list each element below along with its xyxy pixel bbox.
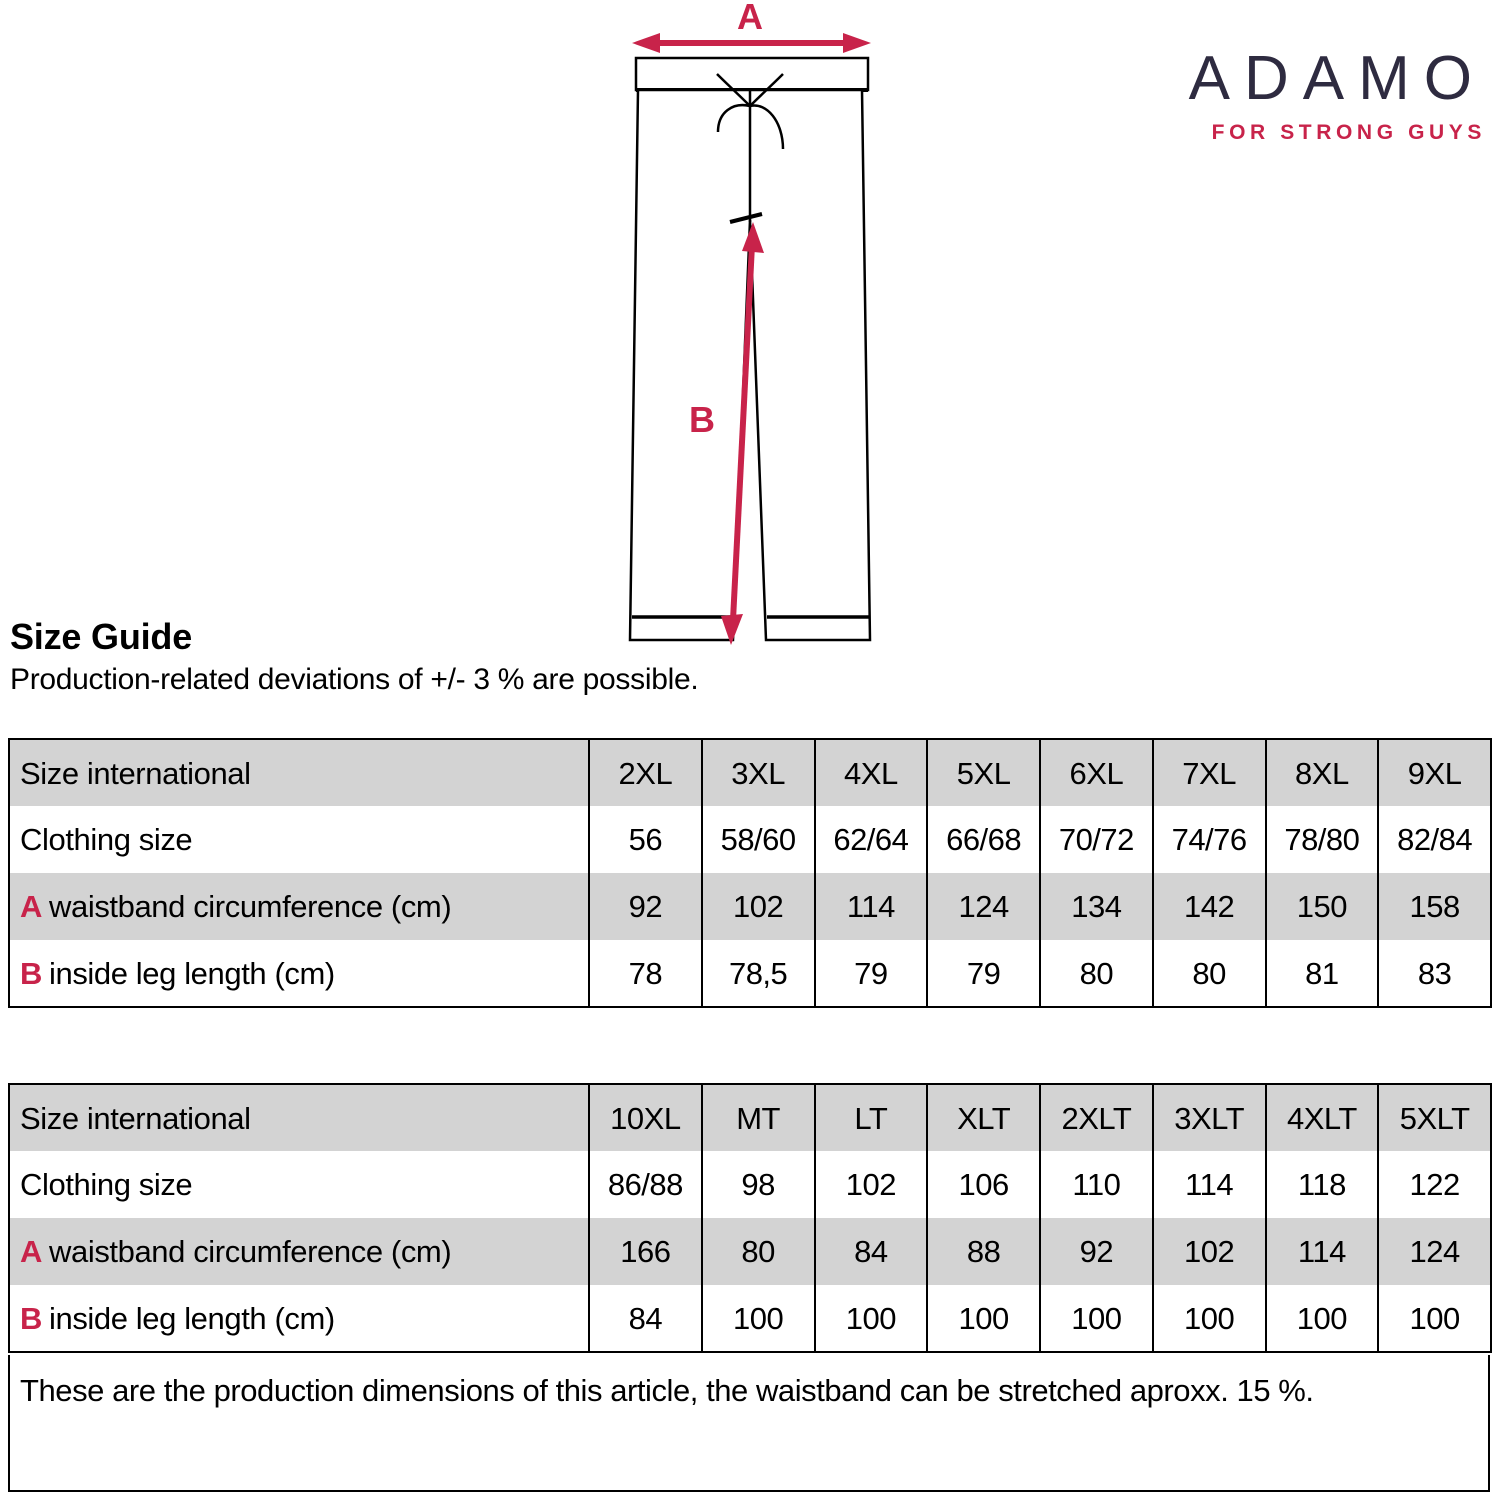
table-cell: 114: [815, 873, 928, 940]
table-row-waistband: Awaistband circumference (cm) 166 80 84 …: [9, 1218, 1491, 1285]
table-row-inside-leg: Binside leg length (cm) 78 78,5 79 79 80…: [9, 940, 1491, 1007]
dimension-letter-b: B: [20, 1301, 42, 1336]
table-cell: 114: [1153, 1151, 1266, 1218]
row-label-inside-leg-text: inside leg length (cm): [49, 1301, 335, 1336]
table-cell: 110: [1040, 1151, 1153, 1218]
table-cell: 92: [1040, 1218, 1153, 1285]
table-cell: 100: [702, 1285, 815, 1352]
size-table-standard: Size international 2XL 3XL 4XL 5XL 6XL 7…: [8, 738, 1492, 1008]
table-cell: 150: [1266, 873, 1379, 940]
table-cell: 80: [1040, 940, 1153, 1007]
row-label-size-international: Size international: [9, 1084, 589, 1151]
table-cell: 70/72: [1040, 806, 1153, 873]
table-cell: 78/80: [1266, 806, 1379, 873]
table-cell: 114: [1266, 1218, 1379, 1285]
table-cell: 122: [1378, 1151, 1491, 1218]
table-row-size-international: Size international 10XL MT LT XLT 2XLT 3…: [9, 1084, 1491, 1151]
row-label-size-international: Size international: [9, 739, 589, 806]
table-row-waistband: Awaistband circumference (cm) 92 102 114…: [9, 873, 1491, 940]
size-table-tall: Size international 10XL MT LT XLT 2XLT 3…: [8, 1083, 1492, 1353]
table-cell: 4XLT: [1266, 1084, 1379, 1151]
brand-name: ADAMO: [1086, 48, 1486, 110]
table-cell: 8XL: [1266, 739, 1379, 806]
table-cell: 9XL: [1378, 739, 1491, 806]
table-cell: 88: [927, 1218, 1040, 1285]
row-label-waistband: Awaistband circumference (cm): [9, 873, 589, 940]
table-cell: 3XLT: [1153, 1084, 1266, 1151]
table-cell: 100: [927, 1285, 1040, 1352]
heading-block: Size Guide Production-related deviations…: [10, 618, 1010, 696]
table-cell: 166: [589, 1218, 702, 1285]
table-cell: LT: [815, 1084, 928, 1151]
measurement-b-label: B: [689, 399, 715, 440]
table-cell: 124: [927, 873, 1040, 940]
table-cell: 100: [1266, 1285, 1379, 1352]
table-cell: 66/68: [927, 806, 1040, 873]
table-cell: 106: [927, 1151, 1040, 1218]
table-cell: 86/88: [589, 1151, 702, 1218]
table-cell: 79: [927, 940, 1040, 1007]
row-label-waistband-text: waistband circumference (cm): [49, 889, 451, 924]
table-cell: 78,5: [702, 940, 815, 1007]
row-label-inside-leg: Binside leg length (cm): [9, 1285, 589, 1352]
row-label-clothing-size: Clothing size: [9, 806, 589, 873]
table-cell: 81: [1266, 940, 1379, 1007]
table-cell: 62/64: [815, 806, 928, 873]
dimension-letter-b: B: [20, 956, 42, 991]
table-cell: 78: [589, 940, 702, 1007]
table-cell: 2XLT: [1040, 1084, 1153, 1151]
table-cell: 6XL: [1040, 739, 1153, 806]
table-cell: 4XL: [815, 739, 928, 806]
table-cell: 92: [589, 873, 702, 940]
table-cell: 79: [815, 940, 928, 1007]
table-cell: 100: [815, 1285, 928, 1352]
pants-diagram: A B: [590, 0, 920, 670]
table-row-clothing-size: Clothing size 86/88 98 102 106 110 114 1…: [9, 1151, 1491, 1218]
table-cell: 118: [1266, 1151, 1379, 1218]
table-cell: 2XL: [589, 739, 702, 806]
row-label-waistband-text: waistband circumference (cm): [49, 1234, 451, 1269]
table-cell: 84: [589, 1285, 702, 1352]
dimension-letter-a: A: [20, 1234, 42, 1269]
row-label-clothing-size: Clothing size: [9, 1151, 589, 1218]
table-cell: 102: [702, 873, 815, 940]
table-cell: 100: [1378, 1285, 1491, 1352]
table-cell: 100: [1040, 1285, 1153, 1352]
table-cell: 98: [702, 1151, 815, 1218]
table-row-clothing-size: Clothing size 56 58/60 62/64 66/68 70/72…: [9, 806, 1491, 873]
table-cell: 134: [1040, 873, 1153, 940]
table-cell: 84: [815, 1218, 928, 1285]
dimension-letter-a: A: [20, 889, 42, 924]
table-cell: 158: [1378, 873, 1491, 940]
table-cell: 142: [1153, 873, 1266, 940]
brand-tagline: FOR STRONG GUYS: [1086, 122, 1486, 143]
table-row-inside-leg: Binside leg length (cm) 84 100 100 100 1…: [9, 1285, 1491, 1352]
table-cell: 83: [1378, 940, 1491, 1007]
table-cell: MT: [702, 1084, 815, 1151]
table-cell: 58/60: [702, 806, 815, 873]
measurement-a-label: A: [737, 0, 763, 37]
page-title: Size Guide: [10, 618, 1010, 656]
table-cell: 102: [1153, 1218, 1266, 1285]
table-cell: 7XL: [1153, 739, 1266, 806]
row-label-waistband: Awaistband circumference (cm): [9, 1218, 589, 1285]
table-cell: 56: [589, 806, 702, 873]
table-cell: 74/76: [1153, 806, 1266, 873]
table-cell: 100: [1153, 1285, 1266, 1352]
row-label-inside-leg: Binside leg length (cm): [9, 940, 589, 1007]
table-cell: 80: [1153, 940, 1266, 1007]
size-guide-page: ADAMO FOR STRONG GUYS: [0, 0, 1500, 1500]
table-cell: XLT: [927, 1084, 1040, 1151]
page-subtitle: Production-related deviations of +/- 3 %…: [10, 663, 1010, 696]
table-cell: 102: [815, 1151, 928, 1218]
table-cell: 124: [1378, 1218, 1491, 1285]
table-cell: 5XLT: [1378, 1084, 1491, 1151]
table-cell: 3XL: [702, 739, 815, 806]
row-label-inside-leg-text: inside leg length (cm): [49, 956, 335, 991]
brand-logo: ADAMO FOR STRONG GUYS: [1086, 48, 1486, 143]
table-cell: 5XL: [927, 739, 1040, 806]
table-row-size-international: Size international 2XL 3XL 4XL 5XL 6XL 7…: [9, 739, 1491, 806]
waistband-shape: [636, 58, 868, 90]
table-cell: 80: [702, 1218, 815, 1285]
table-cell: 10XL: [589, 1084, 702, 1151]
footer-note: These are the production dimensions of t…: [8, 1355, 1490, 1492]
table-cell: 82/84: [1378, 806, 1491, 873]
